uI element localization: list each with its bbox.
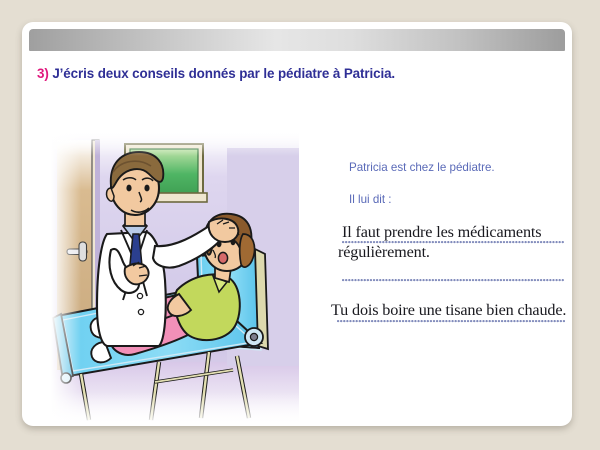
answer-line-2: Tu dois boire une tisane bien chaude. bbox=[331, 301, 566, 320]
prompt-line-1: Patricia est chez le pédiatre. bbox=[349, 161, 495, 174]
illustration-pediatrician-scene bbox=[51, 130, 299, 425]
slide-body: 3) J’écris deux conseils donnés par le p… bbox=[29, 51, 565, 419]
illustration-svg bbox=[51, 130, 299, 425]
dotted-rule-2 bbox=[342, 279, 564, 282]
page-title: 3) J’écris deux conseils donnés par le p… bbox=[37, 66, 395, 81]
prompt-line-2: Il lui dit : bbox=[349, 193, 392, 206]
dotted-rule-3 bbox=[337, 320, 565, 323]
question-number: 3) bbox=[37, 66, 49, 81]
slide-card: 3) J’écris deux conseils donnés par le p… bbox=[22, 22, 572, 426]
question-text: J’écris deux conseils donnés par le pédi… bbox=[49, 66, 395, 81]
title-bar bbox=[29, 29, 565, 51]
answer-line-1-part-1: Il faut prendre les médicaments bbox=[342, 223, 541, 242]
answer-line-1-part-2: régulièrement. bbox=[338, 243, 430, 262]
